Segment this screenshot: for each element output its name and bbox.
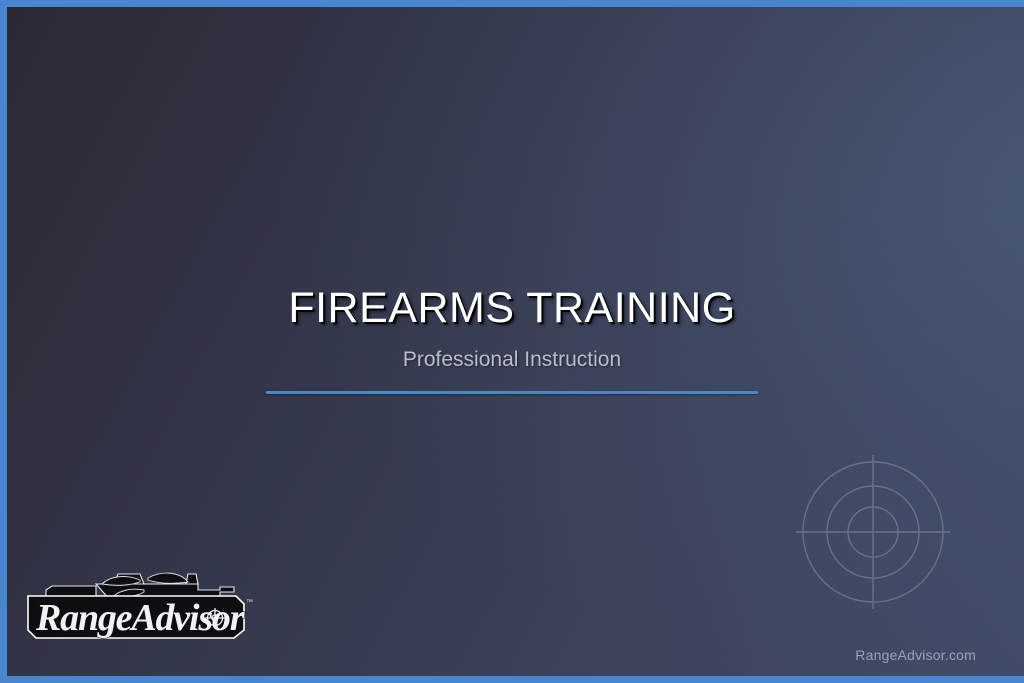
presentation-slide: FIREARMS TRAINING Professional Instructi… — [0, 0, 1024, 683]
accent-divider — [266, 391, 758, 394]
page-subtitle: Professional Instruction — [266, 348, 758, 371]
slide-frame-top — [0, 0, 1024, 7]
rangeadvisor-logo[interactable]: RangeAdvisor ™ — [22, 556, 262, 654]
title-block: FIREARMS TRAINING Professional Instructi… — [266, 286, 758, 394]
slide-frame-bottom — [0, 676, 1024, 683]
footer-website-url[interactable]: RangeAdvisor.com — [855, 647, 976, 663]
slide-frame-left — [0, 0, 7, 683]
logo-trademark: ™ — [246, 599, 253, 606]
page-title: FIREARMS TRAINING — [266, 286, 758, 332]
